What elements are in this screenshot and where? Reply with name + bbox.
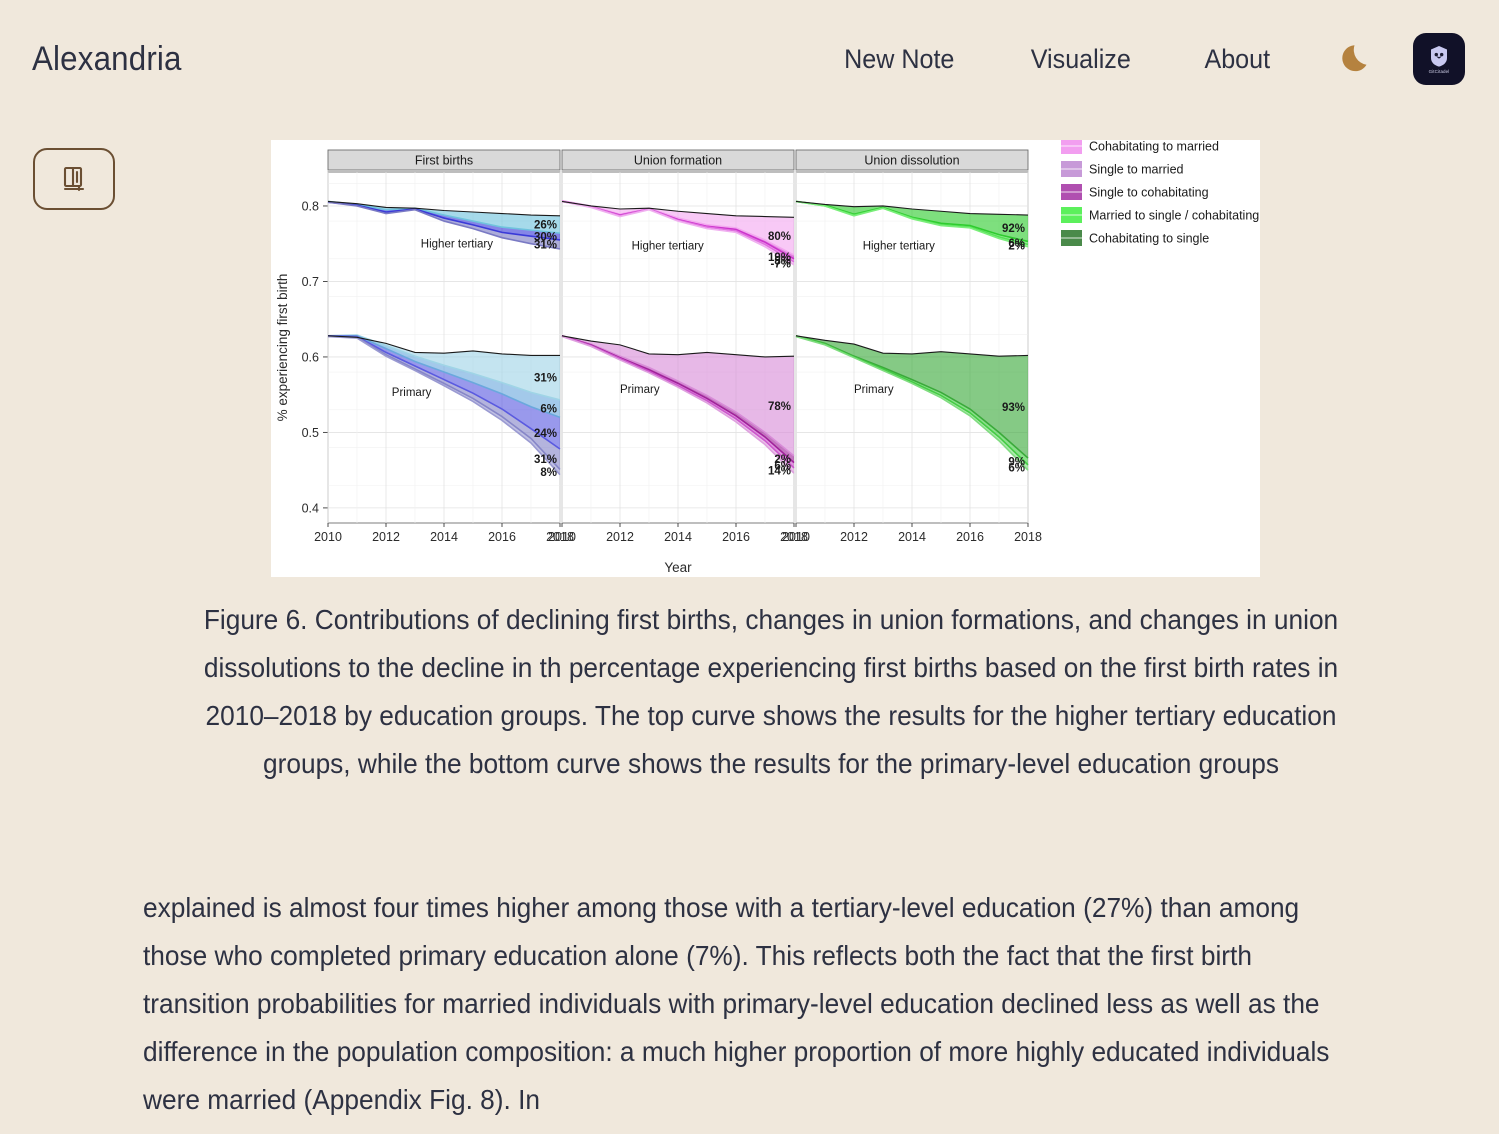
y-tick-label: 0.8 [302, 199, 319, 213]
x-tick-label: 2016 [722, 530, 750, 544]
curve-group-label: Primary [392, 387, 432, 399]
top-navigation-bar: Alexandria New Note Visualize About GitC… [0, 0, 1499, 118]
y-tick-label: 0.6 [302, 350, 319, 364]
band-annotation: 78% [768, 401, 791, 413]
figure-caption: Figure 6. Contributions of declining fir… [168, 596, 1373, 788]
band-annotation: 93% [1002, 402, 1025, 414]
y-tick-label: 0.5 [302, 426, 319, 440]
left-rail [33, 148, 115, 210]
band-annotation: 31% [534, 239, 557, 251]
panel-union-dissolution: Union dissolutionHigher tertiary92%6%2%P… [782, 150, 1042, 544]
nav-new-note[interactable]: New Note [813, 44, 986, 75]
band-annotation: 92% [1002, 223, 1025, 235]
curve-group-label: Primary [620, 384, 660, 396]
library-toggle-button[interactable] [33, 148, 115, 210]
x-tick-label: 2014 [898, 530, 926, 544]
theme-toggle-button[interactable] [1331, 33, 1383, 85]
chart-legend: Cohabitating to marriedSingle to married… [1061, 140, 1259, 246]
nav-links-group: New Note Visualize About GitCitadel [806, 33, 1465, 85]
panel-title: Union dissolution [864, 154, 959, 168]
gitcitadel-logo[interactable]: GitCitadel [1413, 33, 1465, 85]
band-annotation: 26% [534, 219, 557, 231]
x-tick-label: 2010 [314, 530, 342, 544]
legend-swatch [1061, 140, 1082, 154]
figure-image: % experiencing first birthYear0.40.50.60… [271, 140, 1260, 577]
x-tick-label: 2016 [488, 530, 516, 544]
band-annotation: -7% [771, 258, 791, 270]
nav-visualize[interactable]: Visualize [999, 44, 1162, 75]
x-tick-label: 2010 [782, 530, 810, 544]
y-axis-label: % experiencing first birth [275, 274, 290, 422]
panel-first-births: First birthsHigher tertiary26%30%31%Prim… [314, 150, 574, 544]
x-tick-label: 2014 [430, 530, 458, 544]
legend-label: Cohabitating to single [1089, 232, 1209, 246]
band-annotation: 31% [534, 373, 557, 385]
x-tick-label: 2012 [840, 530, 868, 544]
x-tick-label: 2018 [1014, 530, 1042, 544]
x-tick-label: 2010 [548, 530, 576, 544]
x-tick-label: 2012 [606, 530, 634, 544]
gitcitadel-shield-icon [1426, 43, 1452, 69]
band-annotation: 80% [768, 231, 791, 243]
figure-chart-svg: % experiencing first birthYear0.40.50.60… [271, 140, 1260, 577]
legend-label: Single to married [1089, 163, 1184, 177]
x-axis-label: Year [664, 560, 692, 575]
gitcitadel-logo-label: GitCitadel [1429, 70, 1450, 75]
band-annotation: 6% [540, 404, 557, 416]
curve-group-label: Higher tertiary [632, 241, 704, 253]
band-annotation: 14% [768, 466, 791, 478]
band-annotation: 8% [540, 467, 557, 479]
band-annotation: 24% [534, 428, 557, 440]
panel-union-formation: Union formationHigher tertiary80%19%8%-7… [548, 150, 808, 544]
curve-group-label: Higher tertiary [863, 241, 935, 253]
y-tick-label: 0.4 [302, 501, 319, 515]
panel-title: First births [415, 154, 473, 168]
panel-title: Union formation [634, 154, 722, 168]
x-tick-label: 2016 [956, 530, 984, 544]
y-tick-label: 0.7 [302, 275, 319, 289]
curve-group-label: Higher tertiary [421, 238, 493, 250]
moon-icon [1337, 39, 1377, 79]
legend-label: Married to single / cohabitating [1089, 209, 1259, 223]
book-icon [59, 164, 89, 194]
band-annotation: 2% [1008, 241, 1025, 253]
nav-about[interactable]: About [1173, 44, 1302, 75]
app-brand-title[interactable]: Alexandria [32, 40, 182, 79]
x-tick-label: 2014 [664, 530, 692, 544]
band-annotation: 6% [1008, 463, 1025, 475]
legend-label: Cohabitating to married [1089, 140, 1219, 154]
x-tick-label: 2012 [372, 530, 400, 544]
legend-label: Single to cohabitating [1089, 186, 1209, 200]
curve-group-label: Primary [854, 384, 894, 396]
article-body-paragraph: explained is almost four times higher am… [143, 884, 1339, 1124]
band-annotation: 31% [534, 454, 557, 466]
